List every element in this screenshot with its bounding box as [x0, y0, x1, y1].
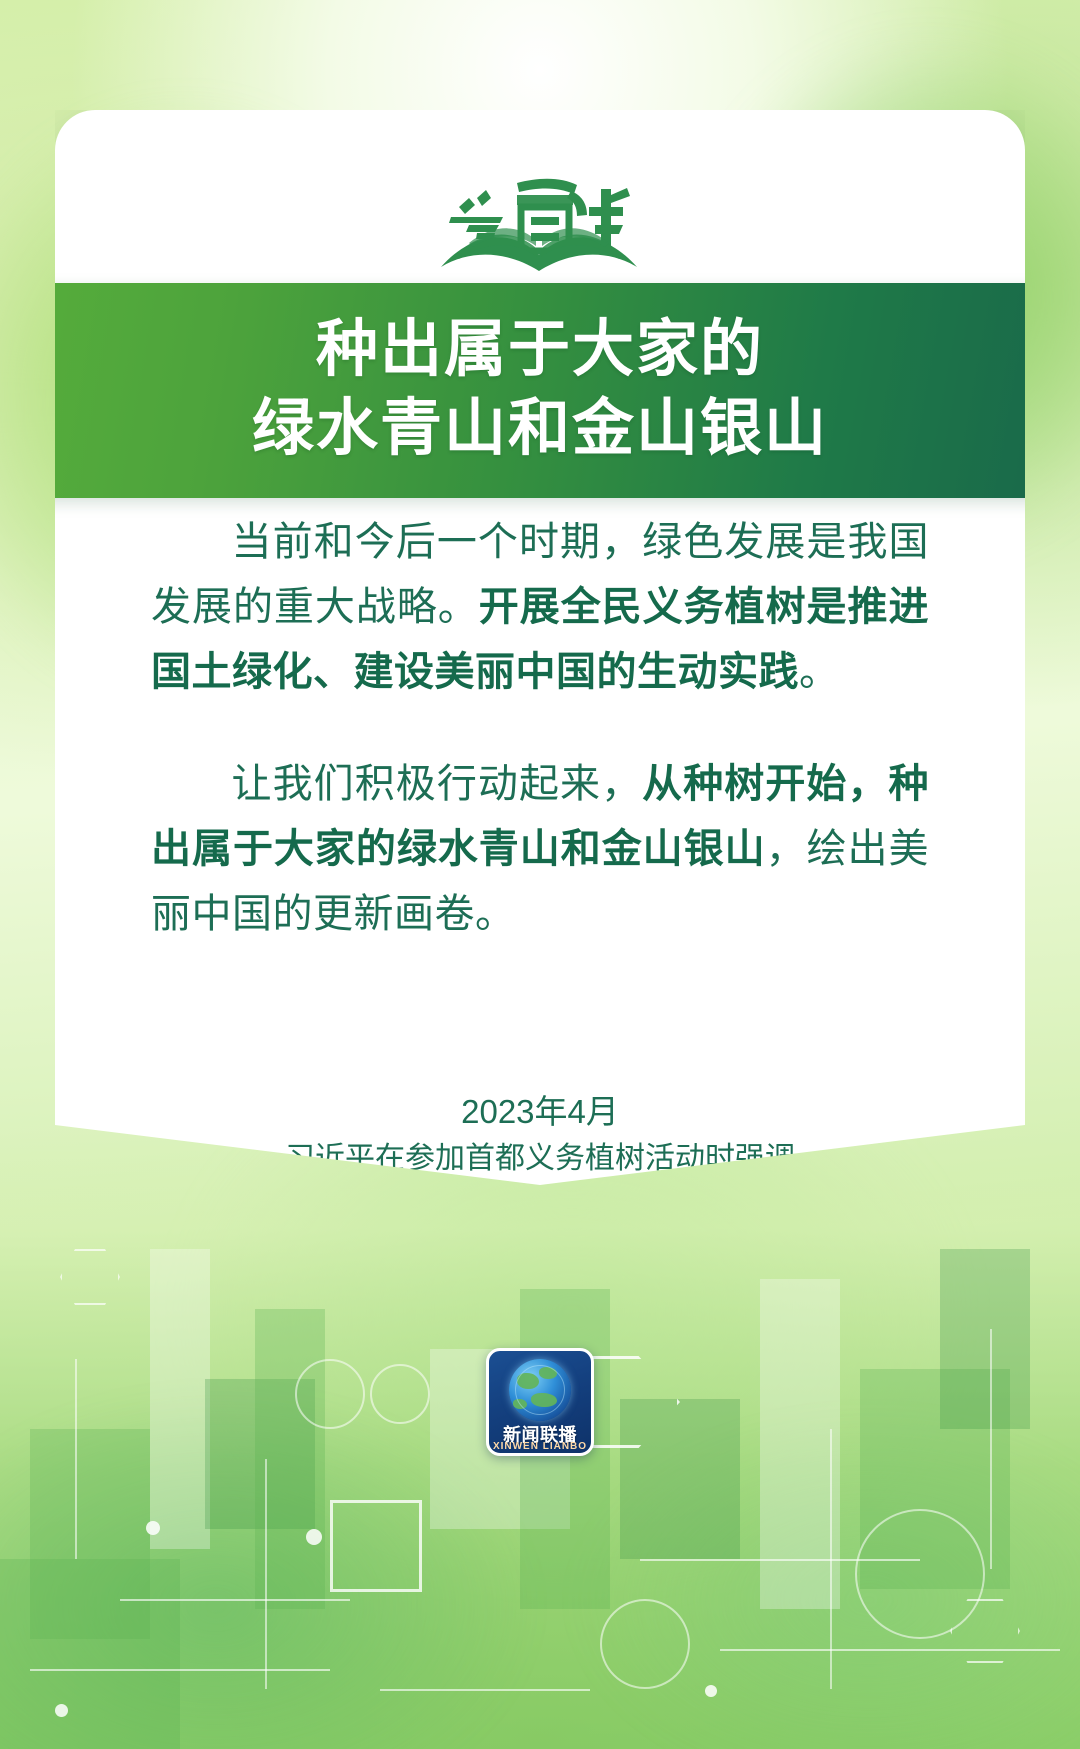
- deco-line: [830, 1429, 832, 1689]
- deco-line: [30, 1669, 330, 1671]
- plain-text: 。: [799, 650, 840, 694]
- title-line-2: 绿水青山和金山银山: [20, 388, 1060, 467]
- xinwen-lianbo-badge[interactable]: 新闻联播 XINWEN LIANBO: [486, 1348, 594, 1456]
- deco-circle: [370, 1364, 430, 1424]
- paragraph-2: 让我们积极行动起来，从种树开始，种出属于大家的绿水青山和金山银山，绘出美丽中国的…: [151, 752, 929, 946]
- deco-circle: [295, 1359, 365, 1429]
- deco-dot: [705, 1685, 717, 1697]
- title-banner: 种出属于大家的 绿水青山和金山银山: [20, 283, 1060, 498]
- earth-globe-icon: [509, 1359, 571, 1421]
- deco-circle: [600, 1599, 690, 1689]
- deco-block: [940, 1249, 1030, 1429]
- title-line-1: 种出属于大家的: [20, 309, 1060, 388]
- badge-title-en: XINWEN LIANBO: [489, 1441, 591, 1452]
- deco-dot: [306, 1529, 322, 1545]
- paragraph-1: 当前和今后一个时期，绿色发展是我国发展的重大战略。开展全民义务植树是推进国土绿化…: [151, 510, 929, 704]
- deco-line: [990, 1329, 992, 1569]
- deco-line: [120, 1599, 350, 1601]
- deco-line: [75, 1359, 77, 1559]
- plain-text: 让我们积极行动起来，: [231, 762, 642, 806]
- deco-block: [150, 1249, 210, 1549]
- attribution-date: 2023年4月: [55, 1088, 1025, 1136]
- deco-line: [265, 1459, 267, 1689]
- deco-dot: [55, 1704, 68, 1717]
- deco-square-outline: [330, 1500, 422, 1592]
- deco-block: [0, 1559, 180, 1749]
- open-book-icon: 学习卡: [425, 155, 655, 275]
- content-card: 学习卡 种出属于大家的 绿水青山和金山银山 当前和今后一个时期，绿色发展是我国发…: [55, 110, 1025, 1185]
- body-text: 当前和今后一个时期，绿色发展是我国发展的重大战略。开展全民义务植树是推进国土绿化…: [55, 510, 1025, 995]
- deco-line: [380, 1689, 590, 1691]
- deco-dot: [146, 1521, 160, 1535]
- brand-logo: 学习卡: [55, 110, 1025, 275]
